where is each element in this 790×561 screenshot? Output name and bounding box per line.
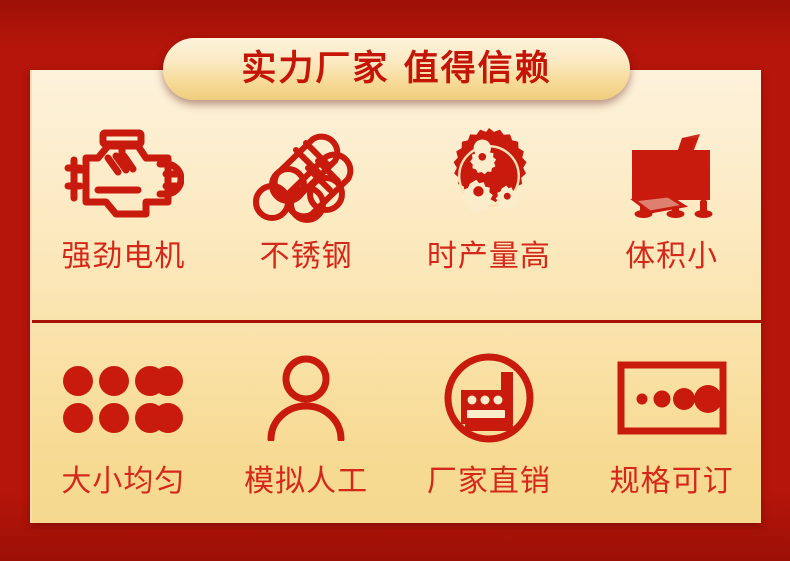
engine-icon xyxy=(62,128,184,224)
feature-item-factory-direct: 厂家直销 xyxy=(398,323,581,523)
feature-label: 时产量高 xyxy=(427,242,551,272)
feature-item-compact-size: 体积小 xyxy=(580,70,763,320)
machine-icon xyxy=(620,128,724,224)
feature-label: 大小均匀 xyxy=(61,467,185,497)
page-title: 实力厂家 值得信赖 xyxy=(241,52,551,87)
feature-item-manual-simulation: 模拟人工 xyxy=(215,323,398,523)
gears-icon xyxy=(440,128,538,224)
content-panel: 强劲电机 xyxy=(30,70,761,523)
feature-label: 体积小 xyxy=(625,242,718,272)
feature-label: 规格可订 xyxy=(610,467,734,497)
feature-label: 厂家直销 xyxy=(427,467,551,497)
feature-item-uniform-size: 大小均匀 xyxy=(32,323,215,523)
steel-pipes-icon xyxy=(252,128,360,224)
top-feature-row: 强劲电机 xyxy=(32,70,763,320)
person-icon xyxy=(264,353,348,443)
factory-circle-icon xyxy=(443,353,535,443)
promo-poster: 强劲电机 xyxy=(0,0,790,561)
feature-label: 不锈钢 xyxy=(260,242,353,272)
bottom-feature-row: 大小均匀 模拟人工 xyxy=(32,323,763,523)
feature-label: 模拟人工 xyxy=(244,467,368,497)
size-range-icon xyxy=(617,353,727,443)
feature-item-stainless-steel: 不锈钢 xyxy=(215,70,398,320)
feature-item-high-output: 时产量高 xyxy=(398,70,581,320)
feature-item-engine: 强劲电机 xyxy=(32,70,215,320)
uniform-dots-icon xyxy=(61,353,185,443)
title-banner: 实力厂家 值得信赖 xyxy=(163,38,630,100)
feature-label: 强劲电机 xyxy=(61,242,185,272)
feature-item-custom-spec: 规格可订 xyxy=(580,323,763,523)
